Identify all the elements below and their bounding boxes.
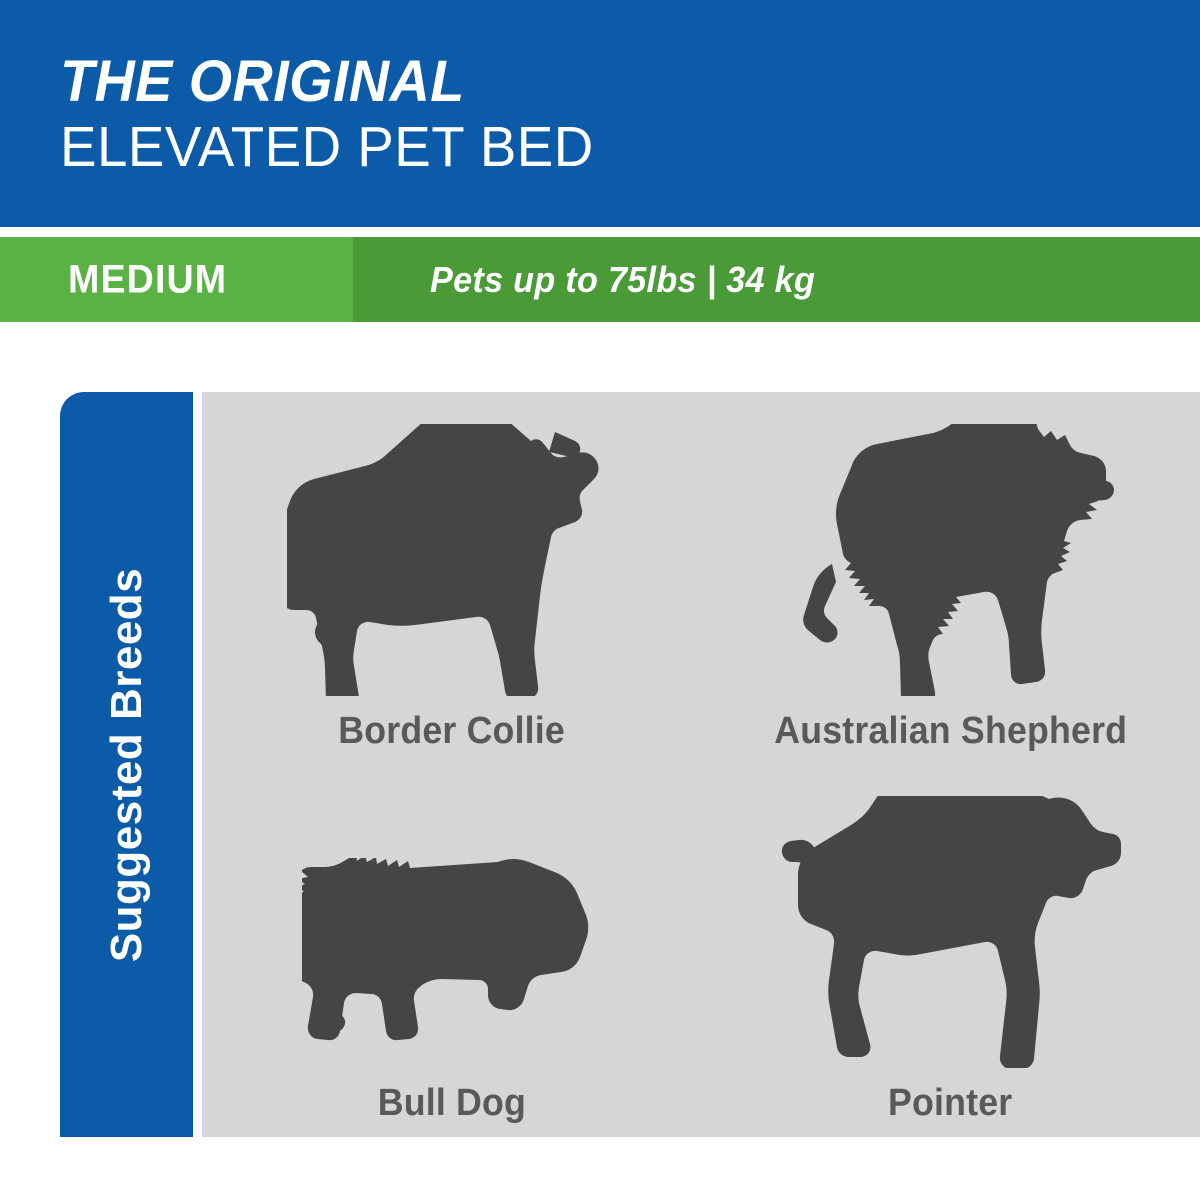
breeds-panel: Border Collie Australian Shepherd bbox=[202, 392, 1200, 1137]
border-collie-silhouette-icon bbox=[287, 424, 617, 696]
breed-name-pointer: Pointer bbox=[888, 1082, 1012, 1125]
size-badge-label: MEDIUM bbox=[68, 257, 227, 302]
bull-dog-silhouette-icon bbox=[302, 796, 602, 1068]
breed-cell-bull-dog: Bull Dog bbox=[202, 765, 701, 1138]
header-banner: THE ORIGINAL ELEVATED PET BED bbox=[0, 0, 1200, 227]
page-title: THE ORIGINAL ELEVATED PET BED bbox=[60, 52, 1060, 178]
breed-name-bull-dog: Bull Dog bbox=[377, 1082, 525, 1125]
breed-cell-australian-shepherd: Australian Shepherd bbox=[701, 392, 1200, 765]
weight-capacity-text: Pets up to 75lbs | 34 kg bbox=[430, 259, 815, 301]
suggested-breeds-label: Suggested Breeds bbox=[102, 567, 152, 961]
breed-grid: Border Collie Australian Shepherd bbox=[202, 392, 1200, 1137]
pointer-silhouette-icon bbox=[781, 796, 1121, 1068]
title-line-original: THE ORIGINAL bbox=[60, 52, 1020, 112]
title-line-product: ELEVATED PET BED bbox=[60, 116, 1020, 178]
breed-cell-border-collie: Border Collie bbox=[202, 392, 701, 765]
australian-shepherd-silhouette-icon bbox=[786, 424, 1116, 696]
suggested-breeds-sidebar: Suggested Breeds bbox=[60, 392, 193, 1137]
breed-cell-pointer: Pointer bbox=[701, 765, 1200, 1138]
size-badge: MEDIUM bbox=[0, 237, 353, 322]
breed-name-border-collie: Border Collie bbox=[338, 710, 565, 753]
breed-name-australian-shepherd: Australian Shepherd bbox=[774, 710, 1127, 753]
size-banner: MEDIUM Pets up to 75lbs | 34 kg bbox=[0, 237, 1200, 322]
